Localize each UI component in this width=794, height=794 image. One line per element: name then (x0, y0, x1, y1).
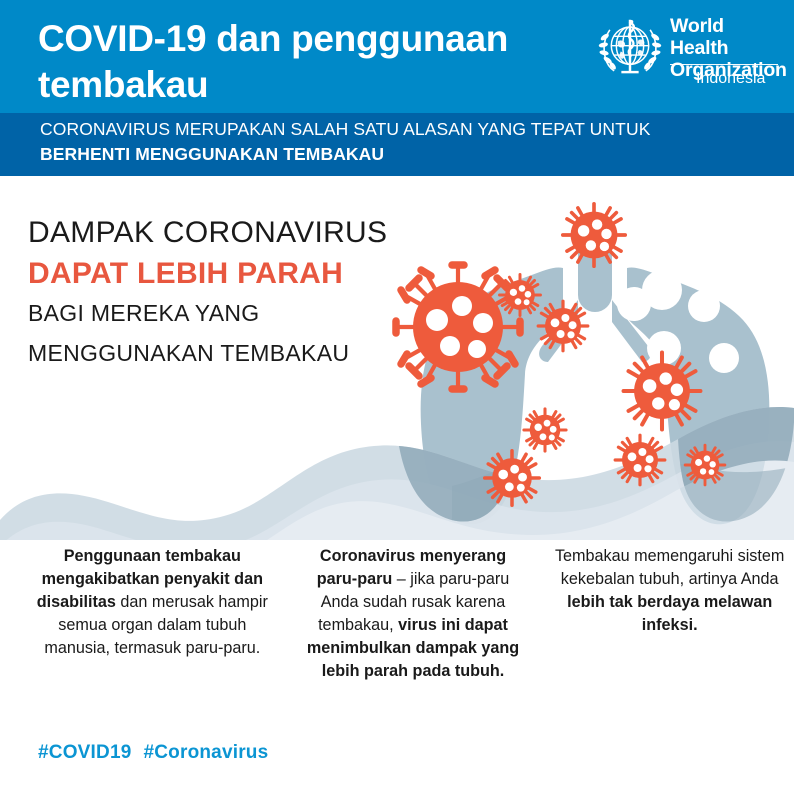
emphasis-text: lebih tak berdaya melawan infeksi. (567, 593, 772, 634)
headline-line-2: DAPAT LEBIH PARAH (28, 259, 458, 289)
headline-line-3: BAGI MEREKA YANG (28, 302, 458, 325)
coronavirus-particle (524, 409, 566, 451)
infographic-poster: COVID-19 dan penggunaan tembakau CORONAV… (0, 0, 794, 794)
hashtag-row: #COVID19#Coronavirus (38, 742, 280, 764)
who-logo-divider (670, 64, 778, 65)
coronavirus-particle (538, 301, 588, 351)
poster-subtitle-line-2: BERHENTI MENGGUNAKAN TEMBAKAU (40, 144, 384, 165)
who-logo: World Health Organization Indonesia (594, 12, 784, 104)
coronavirus-particle (485, 451, 540, 506)
hashtag[interactable]: #Coronavirus (143, 742, 268, 763)
coronavirus-particle (685, 445, 725, 485)
coronavirus-particle (500, 275, 541, 316)
body-text: Tembakau memengaruhi sistem kekebalan tu… (555, 547, 784, 588)
fact-column-2: Coronavirus menyerang paru-paru – jika p… (299, 545, 528, 683)
poster-title: COVID-19 dan penggunaan tembakau (38, 16, 583, 107)
hashtag[interactable]: #COVID19 (38, 742, 131, 763)
headline-line-4: MENGGUNAKAN TEMBAKAU (28, 342, 458, 365)
fact-column-3: Tembakau memengaruhi sistem kekebalan tu… (545, 545, 794, 637)
poster-subtitle-line-1: CORONAVIRUS MERUPAKAN SALAH SATU ALASAN … (40, 119, 650, 140)
headline-line-1: DAMPAK CORONAVIRUS (28, 218, 458, 248)
fact-column-1: Penggunaan tembakau mengakibatkan penyak… (28, 545, 277, 660)
headline-block: DAMPAK CORONAVIRUS DAPAT LEBIH PARAH BAG… (28, 218, 458, 365)
who-word-line-1: World Health (670, 15, 782, 59)
coronavirus-particle (624, 353, 701, 430)
coronavirus-particle (615, 435, 665, 485)
header-banner: COVID-19 dan penggunaan tembakau CORONAV… (0, 0, 794, 176)
coronavirus-particle (563, 204, 625, 266)
fact-columns: Penggunaan tembakau mengakibatkan penyak… (0, 545, 794, 683)
who-country-label: Indonesia (696, 70, 765, 88)
who-emblem-icon (594, 14, 666, 86)
